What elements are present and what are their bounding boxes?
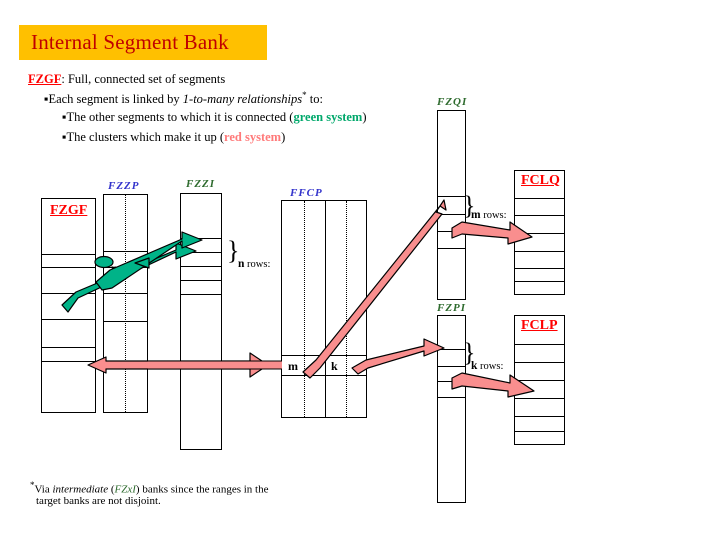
row-divider (104, 321, 147, 322)
row-divider (515, 431, 564, 432)
intro-bullet-2: ▪The other segments to which it is conne… (62, 110, 367, 125)
row-divider (42, 361, 95, 362)
footnote-line-1: *Via intermediate (FZxI) banks since the… (30, 480, 268, 496)
row-divider (515, 268, 564, 269)
row-divider (438, 366, 465, 367)
row-divider (438, 214, 465, 215)
row-divider (515, 380, 564, 381)
row-divider (42, 347, 95, 348)
row-divider (438, 231, 465, 232)
row-divider (515, 398, 564, 399)
row-divider (438, 248, 465, 249)
bank-table-fzpi[interactable] (437, 315, 466, 503)
row-divider (282, 375, 366, 376)
slide-canvas: Internal Segment Bank FZGF: Full, connec… (0, 0, 720, 540)
bank-label-fclp: FCLP (521, 318, 558, 334)
row-divider (515, 416, 564, 417)
n-rows-label: n rows: (238, 258, 270, 270)
cardinality-letter-k: k (331, 359, 338, 374)
row-divider (181, 294, 221, 295)
bullet-2-post: ) (362, 110, 366, 124)
fzgf-keyword: FZGF (28, 72, 61, 86)
m-rows-text: rows: (481, 210, 507, 221)
footnote-fzxi-label: FZxI (115, 484, 136, 496)
m-rows-count: m (471, 209, 481, 221)
bank-caption-ffcp: FFCP (290, 187, 323, 199)
row-divider (515, 281, 564, 282)
bank-table-fzqi[interactable] (437, 110, 466, 300)
n-rows-text: rows: (244, 259, 270, 270)
row-divider (181, 238, 221, 239)
k-rows-text: rows: (477, 361, 503, 372)
row-divider (515, 215, 564, 216)
intro-bullet-3: ▪The clusters which make it up (red syst… (62, 130, 285, 145)
bank-table-fclp[interactable] (514, 315, 565, 445)
row-divider (181, 266, 221, 267)
cardinality-letter-n: n (111, 261, 118, 276)
row-divider (104, 251, 147, 252)
intro-line-1: FZGF: Full, connected set of segments (28, 72, 225, 87)
footnote-line-2: target banks are not disjoint. (36, 495, 161, 507)
bank-caption-fzzp: FZZP (108, 180, 140, 192)
row-divider (104, 361, 147, 362)
bank-table-fzzi[interactable] (180, 193, 222, 450)
row-divider (42, 254, 95, 255)
row-divider (438, 196, 465, 197)
row-divider (515, 233, 564, 234)
column-divider-dotted (304, 201, 305, 417)
row-divider (282, 355, 366, 356)
bullet-3-pre: The clusters which make it up ( (66, 130, 224, 144)
bank-label-fclq: FCLQ (521, 173, 560, 189)
row-divider (515, 362, 564, 363)
footnote-post: ) banks since the ranges in the (136, 484, 269, 496)
row-divider (42, 267, 95, 268)
bullet-1-pre: Each segment is linked by (48, 92, 182, 106)
cardinality-letter-m: m (288, 359, 298, 374)
page-title: Internal Segment Bank (19, 30, 229, 55)
row-divider (181, 252, 221, 253)
bank-table-ffcp[interactable] (281, 200, 367, 418)
footnote-emphasis: intermediate (52, 484, 108, 496)
footnote-pre: Via (35, 484, 53, 496)
row-divider (515, 198, 564, 199)
bank-label-fzgf: FZGF (50, 203, 87, 219)
bullet-1-post: to: (307, 92, 323, 106)
intro-bullet-1: ▪Each segment is linked by 1-to-many rel… (44, 90, 323, 107)
bank-table-fzzp[interactable] (103, 194, 148, 413)
intro-line-1-rest: : Full, connected set of segments (61, 72, 225, 86)
column-divider-dotted (346, 201, 347, 417)
row-divider (42, 319, 95, 320)
bullet-3-post: ) (281, 130, 285, 144)
row-divider (181, 280, 221, 281)
row-divider (438, 397, 465, 398)
row-divider (515, 251, 564, 252)
column-divider (325, 201, 326, 417)
row-divider (438, 349, 465, 350)
m-rows-label: m rows: (471, 209, 507, 221)
row-divider (42, 293, 95, 294)
row-divider (438, 381, 465, 382)
row-divider (515, 344, 564, 345)
bank-caption-fzqi: FZQI (437, 96, 467, 108)
column-divider-dotted (125, 195, 126, 412)
green-system-label: green system (293, 110, 362, 124)
bullet-2-pre: The other segments to which it is connec… (66, 110, 293, 124)
title-banner: Internal Segment Bank (19, 25, 267, 60)
bullet-1-emphasis: 1-to-many relationships (183, 92, 302, 106)
bank-caption-fzpi: FZPI (437, 302, 466, 314)
bank-caption-fzzi: FZZI (186, 178, 215, 190)
red-system-label: red system (224, 130, 281, 144)
row-divider (104, 293, 147, 294)
bank-table-fzgf[interactable] (41, 198, 96, 413)
k-rows-label: k rows: (471, 360, 503, 372)
